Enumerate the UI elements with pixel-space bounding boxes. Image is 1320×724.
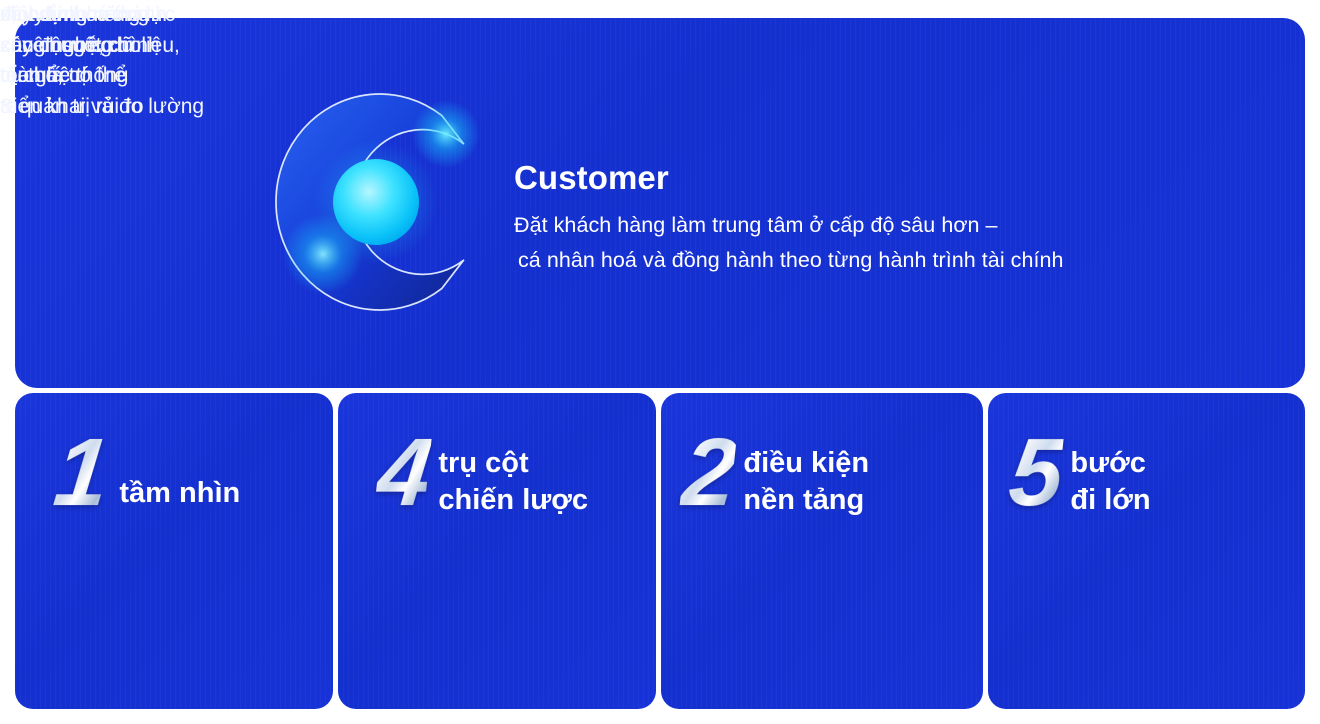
card-title-line-2: đi lớn — [1070, 482, 1150, 519]
card-title-line-1: tầm nhìn — [119, 475, 240, 512]
letter-c-ring-icon — [261, 78, 491, 326]
pillar-card-3[interactable]: 2 điều kiện nền tảng — [661, 393, 983, 709]
hero-subtitle-line-1: Đặt khách hàng làm trung tâm ở cấp độ sâ… — [514, 213, 998, 237]
hero-subtitle: Đặt khách hàng làm trung tâm ở cấp độ sâ… — [514, 208, 1274, 278]
card-header: 2 điều kiện nền tảng — [683, 429, 869, 519]
card-body-line: chuyển hoá thành — [0, 0, 204, 31]
hero-title: Customer — [514, 160, 1274, 196]
card-title: bước đi lớn — [1070, 429, 1150, 519]
card-body-line: cụ thể, có thể — [0, 61, 204, 92]
card-body-line: các chương trình — [0, 31, 204, 62]
card-body-line: triển khai và đo lường — [0, 92, 204, 123]
card-header: 4 trụ cột chiến lược — [378, 429, 588, 519]
pillar-card-1[interactable]: 1 tầm nhìn — [15, 393, 333, 709]
card-number: 2 — [678, 429, 738, 517]
card-title-line-2: nền tảng — [743, 482, 869, 519]
slide-canvas: Customer Đặt khách hàng làm trung tâm ở … — [0, 0, 1320, 724]
card-number: 4 — [373, 429, 433, 517]
card-title: điều kiện nền tảng — [743, 429, 869, 519]
card-header: 5 bước đi lớn — [1010, 429, 1151, 519]
card-title-line-2: chiến lược — [438, 482, 588, 519]
hero-panel: Customer Đặt khách hàng làm trung tâm ở … — [15, 18, 1305, 388]
hero-subtitle-line-2: cá nhân hoá và đồng hành theo từng hành … — [514, 243, 1274, 278]
pillar-card-2[interactable]: 4 trụ cột chiến lược — [338, 393, 656, 709]
card-title-line-1: bước — [1070, 445, 1150, 482]
card-number: 5 — [1005, 429, 1065, 517]
hero-copy: Customer Đặt khách hàng làm trung tâm ở … — [514, 160, 1274, 278]
card-title: tầm nhìn — [119, 429, 240, 512]
card-body-4: chuyển hoá thành các chương trình cụ thể… — [0, 0, 204, 123]
card-title-line-1: trụ cột — [438, 445, 588, 482]
card-title-line-1: điều kiện — [743, 445, 869, 482]
pillar-card-4[interactable]: 5 bước đi lớn — [988, 393, 1305, 709]
card-title: trụ cột chiến lược — [438, 429, 588, 519]
card-header: 1 tầm nhìn — [55, 429, 240, 517]
card-number: 1 — [50, 429, 110, 517]
